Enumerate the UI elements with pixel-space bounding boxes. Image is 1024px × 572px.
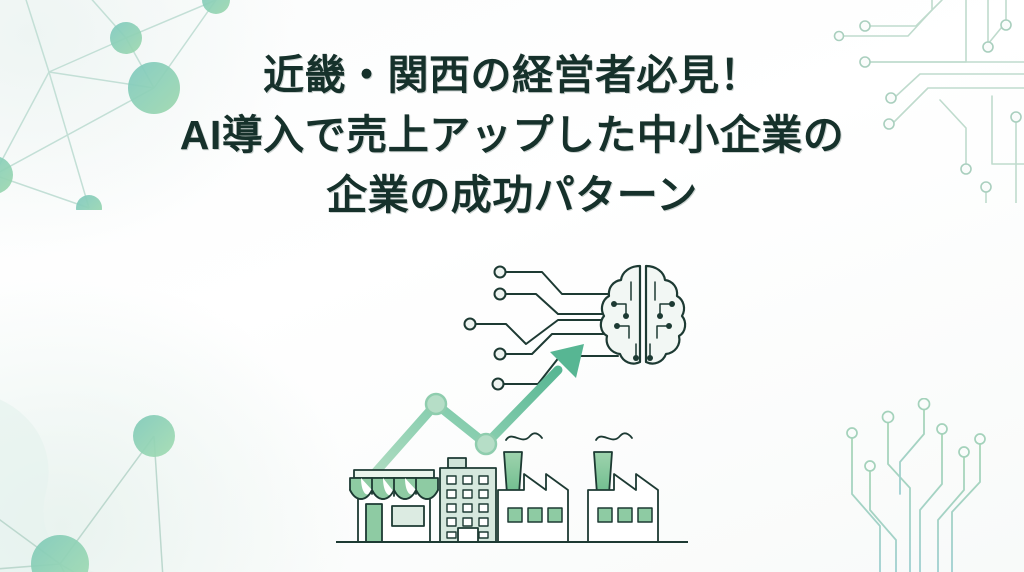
circuit-pattern-bottom-right — [822, 398, 1022, 572]
building-factory-2 — [588, 433, 658, 542]
brain-icon — [601, 266, 685, 364]
building-factory-1 — [498, 433, 568, 542]
ai-growth-illustration — [336, 252, 688, 552]
building-shop — [350, 470, 438, 542]
title-line-1: 近畿・関西の経営者必見！ — [0, 46, 1024, 106]
building-office — [440, 458, 496, 542]
title-line-2: AI導入で売上アップした中小企業の — [0, 106, 1024, 166]
network-graph-bottom-left — [0, 352, 272, 572]
title-line-3: 企業の成功パターン — [0, 166, 1024, 226]
slide-title: 近畿・関西の経営者必見！ AI導入で売上アップした中小企業の 企業の成功パターン — [0, 46, 1024, 226]
slide-canvas: 近畿・関西の経営者必見！ AI導入で売上アップした中小企業の 企業の成功パターン — [0, 0, 1024, 572]
